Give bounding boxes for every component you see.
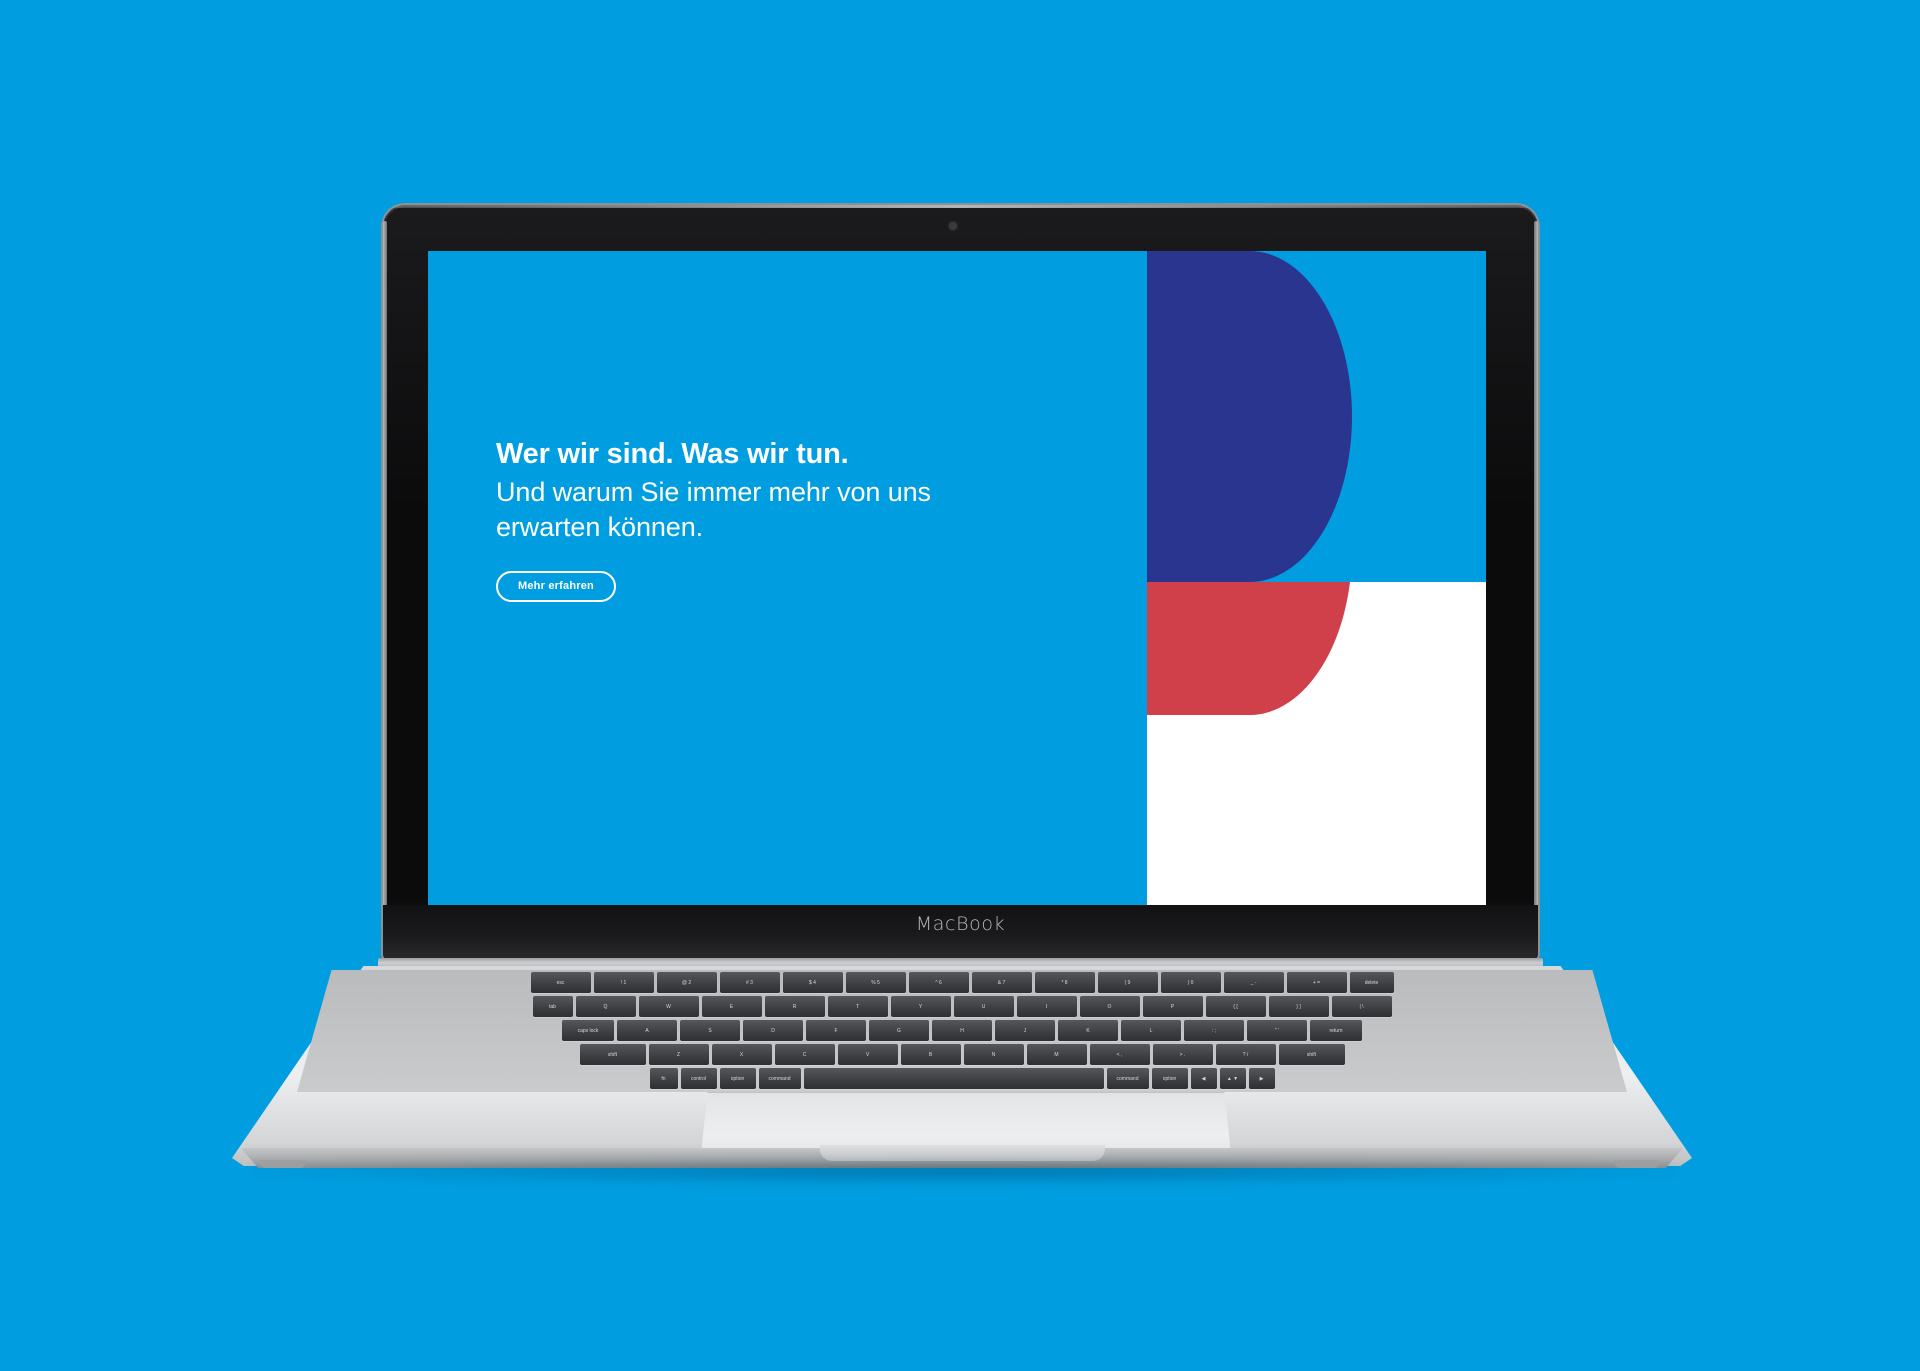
key-tab[interactable]: tab [533, 996, 573, 1017]
key-command[interactable]: command [1107, 1068, 1149, 1089]
key-j[interactable]: J [995, 1020, 1055, 1041]
hero-subheadline-line-2: erwarten können. [496, 512, 703, 542]
keyboard-row-1: esc! 1@ 2# 3$ 4% 5^ 6& 7* 8( 9) 0_ -+ =d… [297, 972, 1627, 993]
key--[interactable]: ? / [1216, 1044, 1276, 1065]
key-return[interactable]: return [1310, 1020, 1362, 1041]
key-a[interactable]: A [617, 1020, 677, 1041]
key-z[interactable]: Z [649, 1044, 709, 1065]
lid-edge-left [383, 221, 387, 950]
key-b[interactable]: B [901, 1044, 961, 1065]
key--[interactable]: { [ [1206, 996, 1266, 1017]
hero-subheadline-line-1: Und warum Sie immer mehr von uns [496, 477, 931, 507]
key-t[interactable]: T [828, 996, 888, 1017]
key-fn[interactable]: fn [650, 1068, 678, 1089]
key-q[interactable]: Q [576, 996, 636, 1017]
mehr-erfahren-button[interactable]: Mehr erfahren [496, 571, 616, 602]
laptop-screen: Wer wir sind. Was wir tun. Und warum Sie… [428, 251, 1486, 905]
key-s[interactable]: S [680, 1020, 740, 1041]
key-d[interactable]: D [743, 1020, 803, 1041]
key-shift[interactable]: shift [580, 1044, 646, 1065]
key--8[interactable]: * 8 [1035, 972, 1095, 993]
key-x[interactable]: X [712, 1044, 772, 1065]
macbook-wordmark: MacBook [916, 913, 1005, 935]
key-k[interactable]: K [1058, 1020, 1118, 1041]
key--7[interactable]: & 7 [972, 972, 1032, 993]
keyboard[interactable]: esc! 1@ 2# 3$ 4% 5^ 6& 7* 8( 9) 0_ -+ =d… [297, 972, 1627, 1090]
key--2[interactable]: @ 2 [657, 972, 717, 993]
key--9[interactable]: ( 9 [1098, 972, 1158, 993]
key-f[interactable]: F [806, 1020, 866, 1041]
keyboard-row-3: caps lockASDFGHJKL: ;" 'return [297, 1020, 1627, 1041]
key-i[interactable]: I [1017, 996, 1077, 1017]
key-l[interactable]: L [1121, 1020, 1181, 1041]
website-page: Wer wir sind. Was wir tun. Und warum Sie… [428, 251, 1486, 905]
hero-section: Wer wir sind. Was wir tun. Und warum Sie… [496, 437, 1056, 602]
key--0[interactable]: ) 0 [1161, 972, 1221, 993]
keyboard-row-4: shiftZXCVBNM< ,> .? /shift [297, 1044, 1627, 1065]
key-p[interactable]: P [1143, 996, 1203, 1017]
key-u[interactable]: U [954, 996, 1014, 1017]
key-r[interactable]: R [765, 996, 825, 1017]
key--[interactable]: | \ [1332, 996, 1392, 1017]
lid-top-rim [393, 205, 1528, 208]
key-space[interactable] [804, 1068, 1104, 1089]
key--[interactable]: > . [1153, 1044, 1213, 1065]
key-shift[interactable]: shift [1279, 1044, 1345, 1065]
decorative-red-arc-shape [1147, 582, 1352, 715]
decorative-blue-arc-shape [1147, 251, 1352, 582]
key-g[interactable]: G [869, 1020, 929, 1041]
key--[interactable]: _ - [1224, 972, 1284, 993]
key--[interactable]: " ' [1247, 1020, 1307, 1041]
key--[interactable]: ▶ [1249, 1068, 1275, 1089]
key--[interactable]: ◀ [1191, 1068, 1217, 1089]
key-caps-lock[interactable]: caps lock [562, 1020, 614, 1041]
key--3[interactable]: # 3 [720, 972, 780, 993]
key-esc[interactable]: esc [531, 972, 591, 993]
key--[interactable]: + = [1287, 972, 1347, 993]
lid-edge-right [1534, 221, 1538, 950]
key--[interactable]: ▲ ▼ [1220, 1068, 1246, 1089]
keyboard-row-2: tabQWERTYUIOP{ [} ]| \ [297, 996, 1627, 1017]
key-option[interactable]: option [1152, 1068, 1188, 1089]
key--[interactable]: : ; [1184, 1020, 1244, 1041]
key-option[interactable]: option [720, 1068, 756, 1089]
key-n[interactable]: N [964, 1044, 1024, 1065]
key--[interactable]: < , [1090, 1044, 1150, 1065]
hero-headline: Wer wir sind. Was wir tun. [496, 437, 1056, 471]
hero-subheadline: Und warum Sie immer mehr von uns erwarte… [496, 475, 1056, 545]
key--5[interactable]: % 5 [846, 972, 906, 993]
key--4[interactable]: $ 4 [783, 972, 843, 993]
screenshot-canvas: Wer wir sind. Was wir tun. Und warum Sie… [0, 0, 1920, 1371]
key-e[interactable]: E [702, 996, 762, 1017]
screen-bottom-bezel: MacBook [383, 905, 1538, 960]
key-command[interactable]: command [759, 1068, 801, 1089]
laptop-drop-shadow [250, 1158, 1680, 1184]
key--1[interactable]: ! 1 [594, 972, 654, 993]
key-control[interactable]: control [681, 1068, 717, 1089]
webcam-icon [949, 222, 957, 230]
keyboard-row-5: fncontroloptioncommandcommandoption◀▲ ▼▶ [297, 1068, 1627, 1089]
key-h[interactable]: H [932, 1020, 992, 1041]
key-y[interactable]: Y [891, 996, 951, 1017]
key-v[interactable]: V [838, 1044, 898, 1065]
macbook-device: Wer wir sind. Was wir tun. Und warum Sie… [0, 0, 1920, 1371]
key-w[interactable]: W [639, 996, 699, 1017]
key--6[interactable]: ^ 6 [909, 972, 969, 993]
key-c[interactable]: C [775, 1044, 835, 1065]
key-delete[interactable]: delete [1350, 972, 1394, 993]
key-o[interactable]: O [1080, 996, 1140, 1017]
key-m[interactable]: M [1027, 1044, 1087, 1065]
key--[interactable]: } ] [1269, 996, 1329, 1017]
